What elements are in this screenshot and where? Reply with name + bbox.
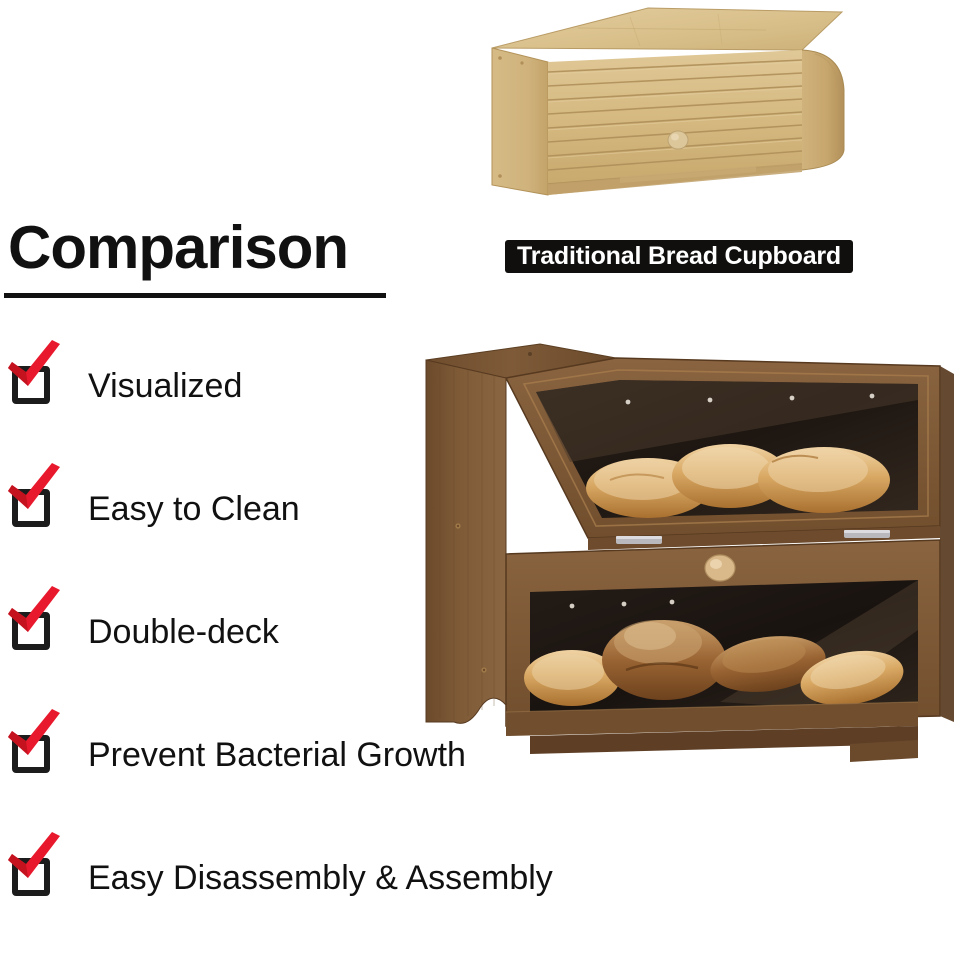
checkbox-box [12,366,50,404]
page-title: Comparison [8,218,348,278]
vent-hole [708,398,713,403]
traditional-bread-box-image [470,0,870,205]
featured-bread-box-image [420,330,960,775]
vent-hole [626,400,631,405]
vent-hole [790,396,795,401]
checkbox-box [12,735,50,773]
checkbox-box [12,489,50,527]
feature-label: Visualized [88,366,242,406]
feature-label: Prevent Bacterial Growth [88,735,466,775]
vent-hole [670,600,675,605]
left-side-panel [492,48,548,195]
checkbox-box [12,858,50,896]
comparison-infographic: Comparison Visualized Easy to Clean [0,0,960,898]
status-badge: Traditional Bread Cupboard [505,240,853,273]
list-item: Easy Disassembly & Assembly [0,832,660,955]
checkbox-box [12,612,50,650]
feature-label: Easy to Clean [88,489,300,529]
feature-label: Easy Disassembly & Assembly [88,858,553,898]
knob-icon [705,555,735,581]
vent-hole [622,602,627,607]
knob-icon [668,131,688,149]
vent-hole [870,394,875,399]
vent-hole [570,604,575,609]
feature-label: Double-deck [88,612,279,652]
title-underline [4,293,386,298]
